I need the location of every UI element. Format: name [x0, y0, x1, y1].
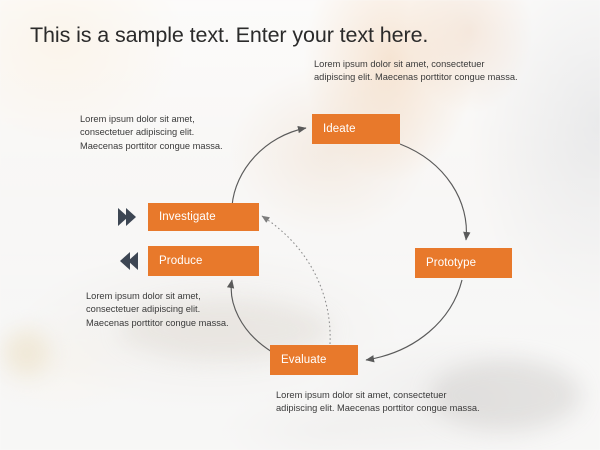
double-chevron-right-icon [116, 206, 140, 228]
page-title: This is a sample text. Enter your text h… [30, 21, 428, 49]
double-chevron-left-icon [116, 250, 140, 272]
note-top: Lorem ipsum dolor sit amet, consectetuer… [314, 58, 519, 85]
slide-canvas: This is a sample text. Enter your text h… [0, 0, 600, 450]
note-left: Lorem ipsum dolor sit amet, consectetuer… [80, 113, 232, 153]
step-box-prototype[interactable]: Prototype [415, 248, 512, 278]
step-box-investigate[interactable]: Investigate [148, 203, 259, 231]
step-box-evaluate[interactable]: Evaluate [270, 345, 358, 375]
note-bottom-left: Lorem ipsum dolor sit amet, consectetuer… [86, 290, 238, 330]
step-box-produce[interactable]: Produce [148, 246, 259, 276]
step-box-ideate[interactable]: Ideate [312, 114, 400, 144]
note-bottom: Lorem ipsum dolor sit amet, consectetuer… [276, 389, 481, 416]
